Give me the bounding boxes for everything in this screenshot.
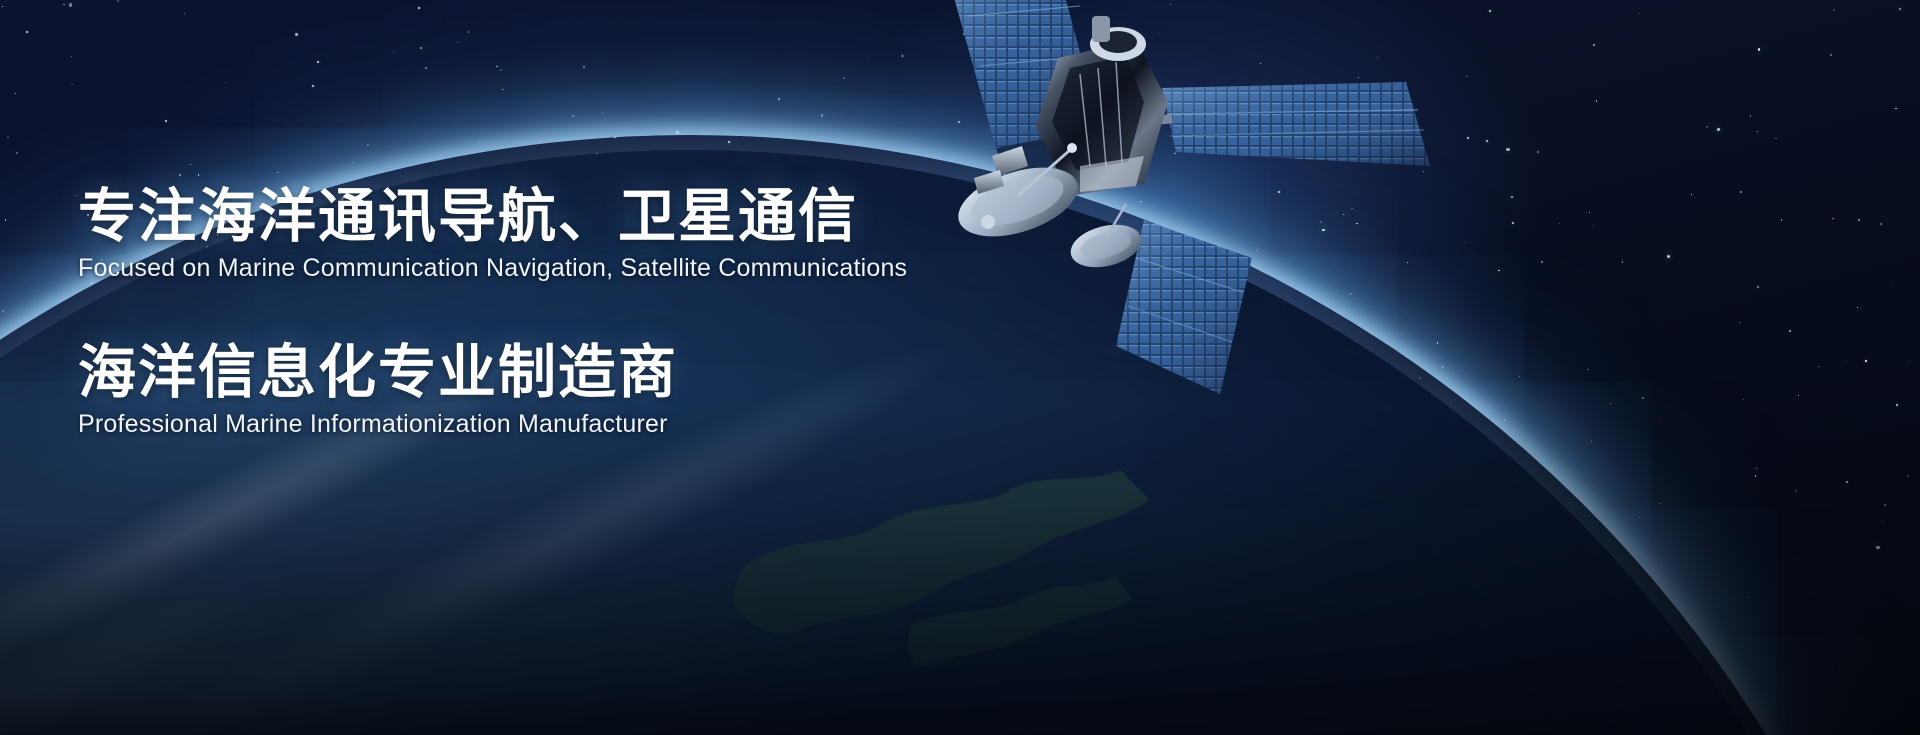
subtitle-primary: Focused on Marine Communication Navigati… (78, 254, 1078, 283)
solar-panel-upper-right (1162, 82, 1430, 166)
satellite-dish-secondary (1066, 204, 1146, 274)
night-side-shadow (0, 405, 1920, 735)
banner-copy: 专注海洋通讯导航、卫星通信 Focused on Marine Communic… (78, 185, 1078, 439)
subtitle-secondary: Professional Marine Informationization M… (78, 410, 1078, 439)
hero-banner: 专注海洋通讯导航、卫星通信 Focused on Marine Communic… (0, 0, 1920, 735)
headline-primary: 专注海洋通讯导航、卫星通信 (78, 185, 1078, 250)
headline-secondary: 海洋信息化专业制造商 (78, 341, 1078, 406)
